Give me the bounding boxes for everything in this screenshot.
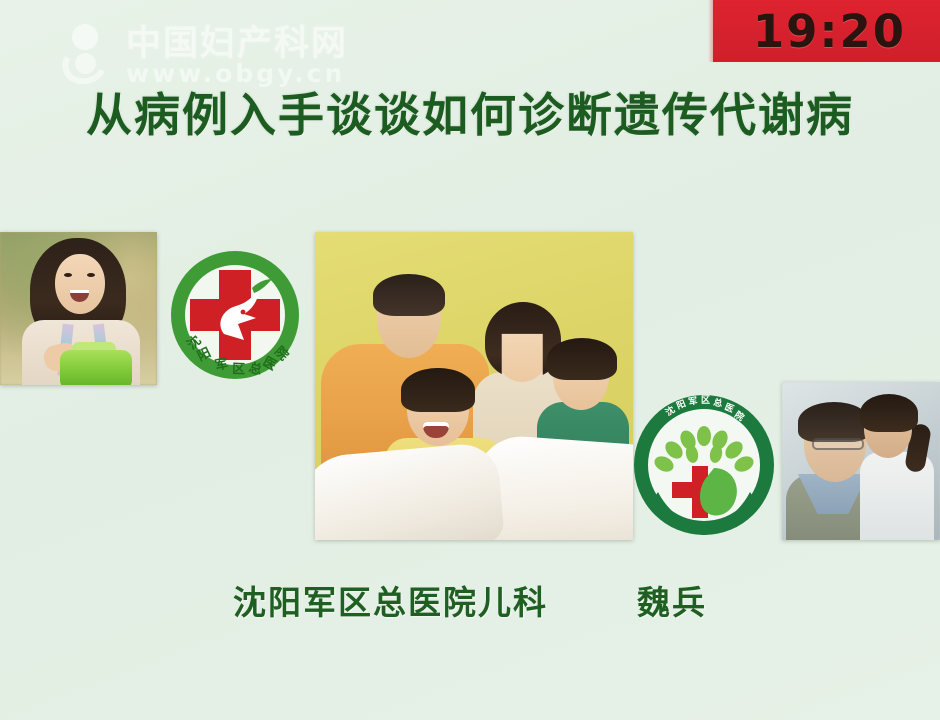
photo-smiling-girl-with-watering-can [0, 232, 157, 385]
presentation-slide: 19:20 中国妇产科网 www.obgy.cn 从病例入手谈谈如何诊断遗传代谢… [0, 0, 940, 720]
logo-arc [57, 38, 113, 90]
obgy-circles-logo-icon [62, 22, 116, 84]
countdown-timer-value: 19:20 [753, 9, 906, 54]
svg-text:区: 区 [232, 362, 246, 377]
health-tree-emblem: 沈 阳 军 区 总 医 院 [628, 392, 780, 538]
countdown-timer-banner: 19:20 [713, 0, 940, 62]
watering-can [60, 350, 132, 385]
eyeglasses-icon [812, 438, 864, 450]
watermark-site-url: www.obgy.cn [126, 59, 348, 88]
watermark-text: 中国妇产科网 www.obgy.cn [126, 22, 348, 88]
photo-grandfather-holding-granddaughter [782, 382, 940, 540]
svg-text:区: 区 [701, 395, 710, 406]
daughter-hair [547, 338, 617, 380]
child-hair [860, 394, 918, 432]
photo-family-of-four [315, 232, 633, 540]
svg-text:军: 军 [688, 396, 699, 408]
son-hair [401, 368, 475, 412]
caption-affiliation: 沈阳军区总医院儿科 [233, 583, 548, 622]
shenyang-military-general-hospital-emblem: 沈 阳 军 区 总 医 院 [164, 248, 306, 382]
pillow-left [315, 441, 505, 540]
watermark-site-name: 中国妇产科网 [126, 26, 348, 63]
father-hair [373, 274, 445, 316]
girl-eye-left [64, 273, 72, 277]
girl-eye-right [87, 273, 95, 277]
girl-face [55, 254, 105, 314]
slide-caption: 沈阳军区总医院儿科 魏兵 [0, 586, 940, 619]
logo-circle-top [72, 24, 98, 50]
banner-left-edge [708, 0, 713, 62]
slide-title: 从病例入手谈谈如何诊断遗传代谢病 [0, 92, 940, 138]
logo-circle-bottom [75, 53, 96, 74]
caption-presenter: 魏兵 [637, 583, 707, 622]
site-watermark: 中国妇产科网 www.obgy.cn [62, 22, 348, 88]
